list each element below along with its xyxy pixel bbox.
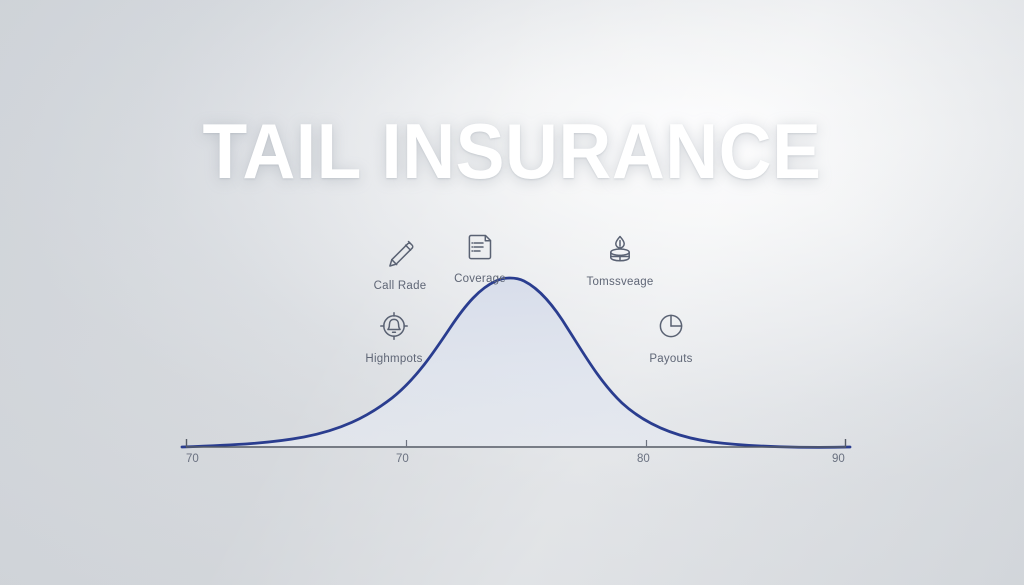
x-tick-label-0: 70 bbox=[186, 453, 199, 465]
x-tick-label-2: 80 bbox=[637, 453, 650, 465]
pie-chart-icon bbox=[605, 305, 737, 347]
feature-tomssveage[interactable]: Tomssveage bbox=[554, 228, 686, 288]
feature-highmpots[interactable]: Highmpots bbox=[328, 305, 460, 365]
target-bell-icon bbox=[328, 305, 460, 347]
clipboard-icon bbox=[414, 225, 546, 267]
page-title: TAIL INSURANCE bbox=[31, 112, 994, 190]
feature-payouts[interactable]: Payouts bbox=[605, 305, 737, 365]
bell-curve-chart bbox=[0, 0, 1024, 585]
x-tick-label-3: 90 bbox=[832, 453, 845, 465]
distribution-area bbox=[186, 278, 846, 447]
feature-coverage[interactable]: Coverage bbox=[414, 225, 546, 285]
candle-coin-icon bbox=[554, 228, 686, 270]
feature-label: Coverage bbox=[414, 273, 546, 285]
tail-insurance-slide: TAIL INSURANCE Call Rade Covera bbox=[0, 0, 1024, 585]
feature-label: Payouts bbox=[605, 353, 737, 365]
feature-label: Highmpots bbox=[328, 353, 460, 365]
x-tick-label-1: 70 bbox=[396, 453, 409, 465]
feature-label: Tomssveage bbox=[554, 276, 686, 288]
